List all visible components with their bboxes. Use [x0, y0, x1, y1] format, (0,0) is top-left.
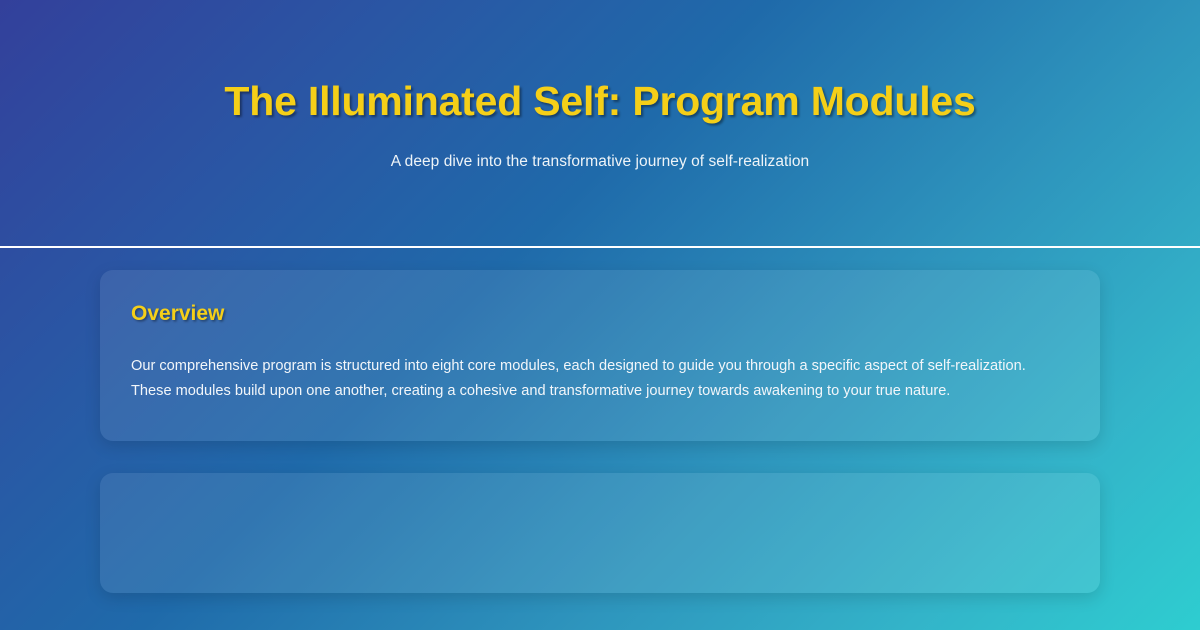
overview-card-title: Overview	[131, 302, 1069, 326]
secondary-card	[100, 473, 1100, 593]
page-wrapper: The Illuminated Self: Program Modules A …	[0, 0, 1200, 593]
overview-card-body: Our comprehensive program is structured …	[131, 354, 1069, 405]
content-area: Overview Our comprehensive program is st…	[0, 248, 1200, 593]
page-title: The Illuminated Self: Program Modules	[0, 78, 1200, 125]
overview-card: Overview Our comprehensive program is st…	[100, 270, 1100, 441]
page-header: The Illuminated Self: Program Modules A …	[0, 0, 1200, 248]
page-subtitle: A deep dive into the transformative jour…	[0, 153, 1200, 171]
